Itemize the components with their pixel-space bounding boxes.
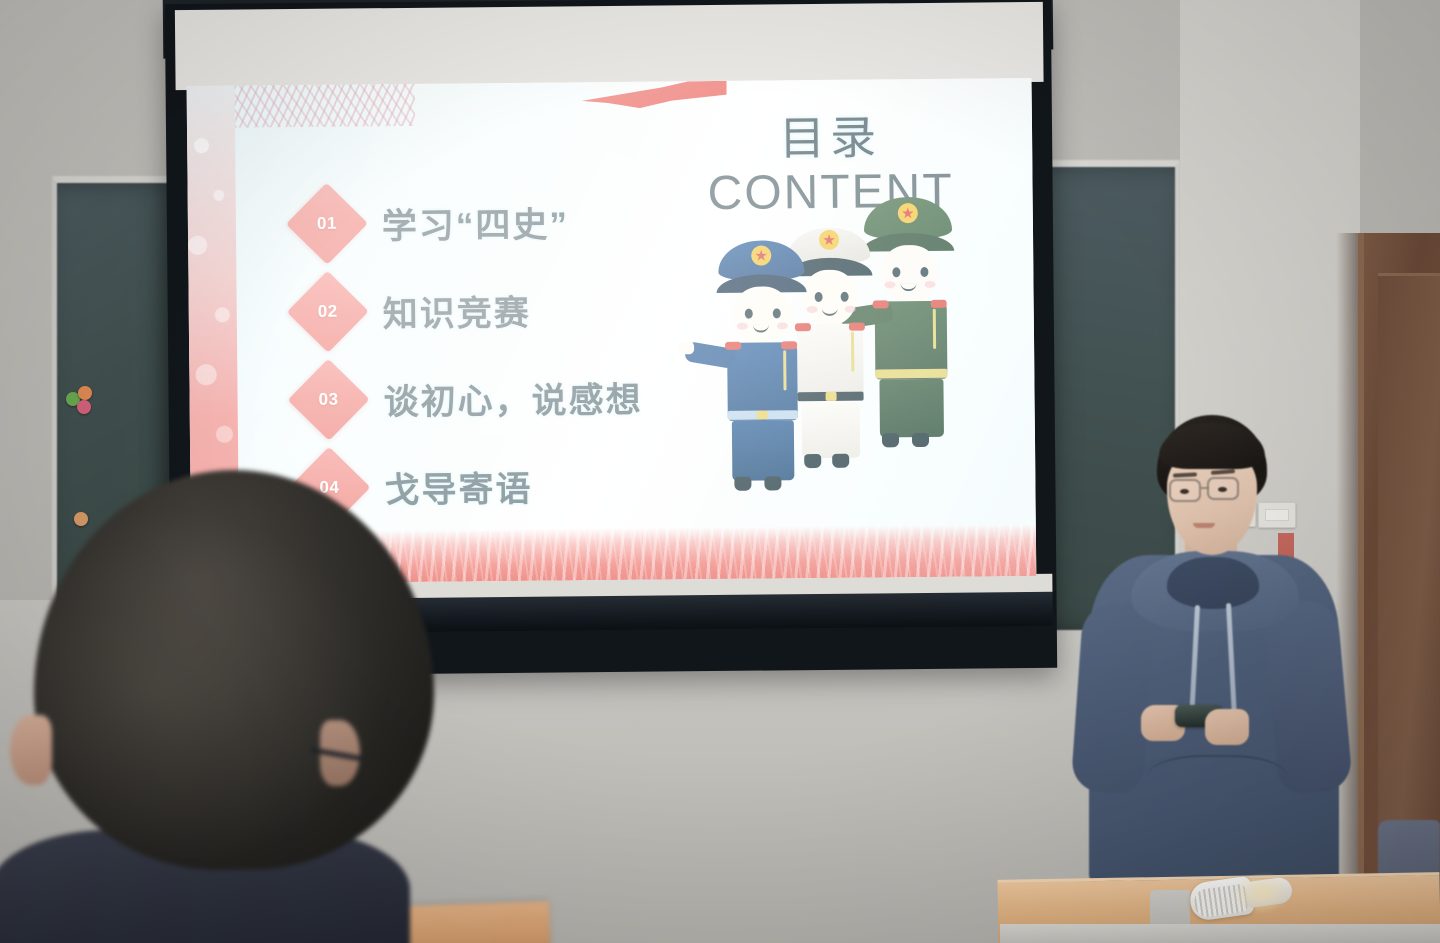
presenter-arm-left: [1070, 601, 1155, 796]
presenter-eye-right: [1218, 487, 1227, 492]
magnet-orange-icon[interactable]: [78, 386, 92, 400]
screen-top-margin: [175, 2, 1044, 90]
audience-head-shading: [34, 470, 434, 870]
audience-member: [10, 470, 450, 943]
presenter-mouth: [1193, 523, 1215, 528]
presenter-hand-right: [1205, 709, 1249, 745]
classroom-scene: 目录 CONTENT 01 学习“四史” 02 知识竞赛: [0, 0, 1440, 943]
presenter-eye-left: [1180, 489, 1189, 494]
presenter-hoodie-pocket: [1147, 755, 1287, 809]
door-panel: [1378, 273, 1440, 913]
audience-ear-left: [10, 715, 52, 785]
door-right[interactable]: [1358, 233, 1440, 913]
presenter: [1075, 405, 1365, 885]
lectern-front-panel: [1000, 924, 1440, 943]
presenter-hood-opening: [1167, 557, 1259, 609]
magnet-pink-icon[interactable]: [77, 400, 91, 414]
glasses-bridge-icon: [1201, 487, 1209, 489]
